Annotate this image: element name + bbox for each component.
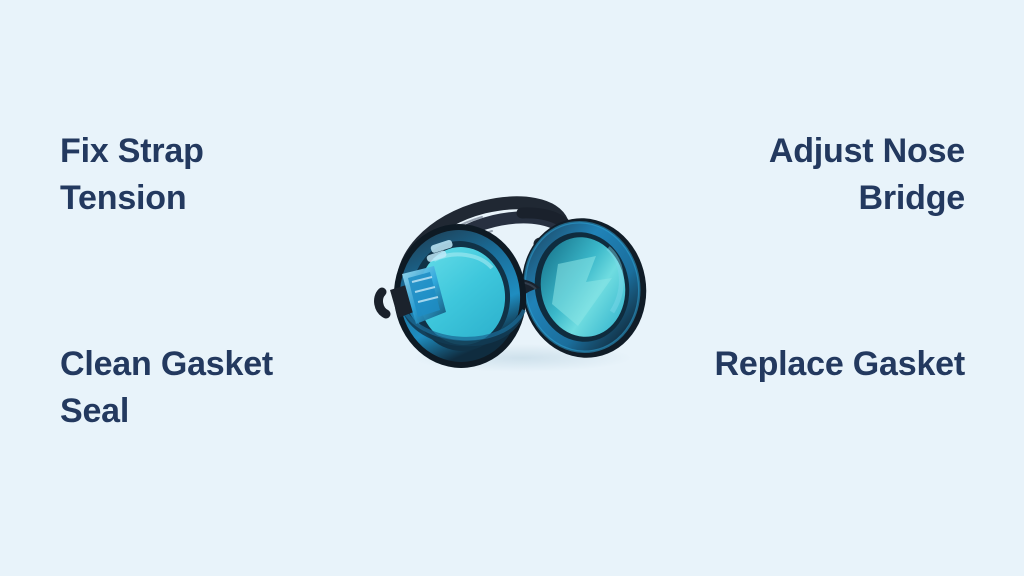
label-clean-gasket-seal: Clean Gasket Seal	[60, 341, 400, 435]
swimming-goggles-image	[372, 186, 658, 374]
label-fix-strap-tension: Fix Strap Tension	[60, 128, 390, 222]
slide-canvas: Fix Strap Tension Adjust Nose Bridge Cle…	[0, 0, 1024, 576]
